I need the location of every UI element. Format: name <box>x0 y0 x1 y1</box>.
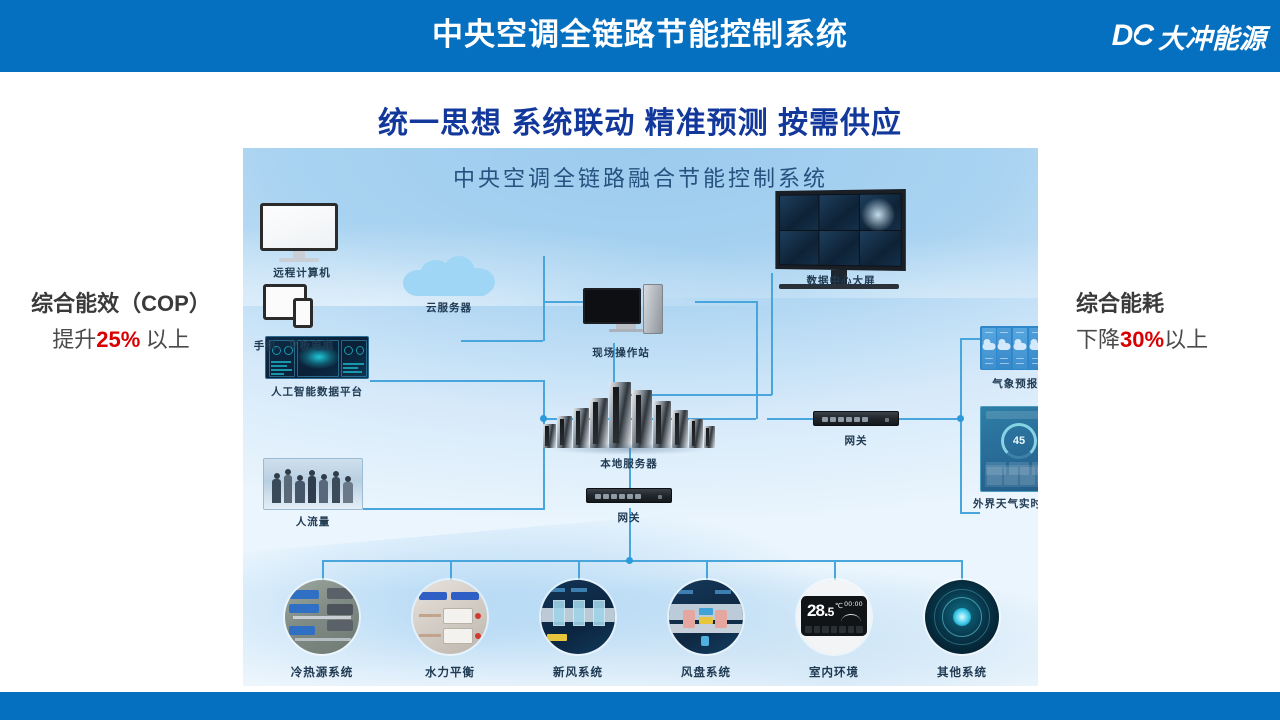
node-remote-computer[interactable] <box>260 203 338 262</box>
header-bar: 中央空调全链路节能控制系统 DC 大冲能源 <box>0 0 1280 72</box>
thermostat-temperature: 28.5 <box>807 602 833 619</box>
video-wall-icon <box>775 189 905 271</box>
kpi-left: 综合能效（COP） 提升25% 以上 <box>8 286 234 354</box>
line-server-to-gateway <box>767 418 813 420</box>
node-gateway-right[interactable] <box>813 411 899 426</box>
node-mobile-tablet[interactable] <box>263 284 323 332</box>
slide-subtitle: 统一思想 系统联动 精准预测 按需供应 <box>0 98 1280 142</box>
node-weather-realtime[interactable]: 45 <box>980 406 1038 492</box>
junction-dot-bottom <box>626 557 633 564</box>
kpi-left-prefix: 提升 <box>52 327 96 352</box>
caption-subsystem-2: 新风系统 <box>528 664 628 680</box>
kpi-right-suffix: 以上 <box>1164 327 1208 352</box>
caption-people-flow: 人流量 <box>263 514 363 529</box>
gateway-ports-bottom <box>595 494 641 499</box>
workstation-monitor-icon <box>583 288 641 324</box>
monitor-icon <box>260 203 338 251</box>
line-drop-1 <box>322 560 324 582</box>
gateway-led-bottom <box>658 495 662 499</box>
caption-local-server: 本地服务器 <box>559 456 699 471</box>
caption-remote-computer: 远程计算机 <box>243 265 361 280</box>
caption-subsystem-4: 室内环境 <box>784 664 884 680</box>
line-drop-2 <box>450 560 452 582</box>
decor-wave-bottom2 <box>243 524 1038 686</box>
monitor-neck <box>293 251 305 258</box>
phone-icon <box>293 298 313 328</box>
line-drop-3 <box>578 560 580 582</box>
page-title: 中央空调全链路节能控制系统 <box>0 6 1280 64</box>
subsystem-icon-other-systems[interactable] <box>925 580 999 654</box>
node-gateway-bottom[interactable] <box>586 488 672 503</box>
kpi-left-title: 综合能效（COP） <box>8 286 234 318</box>
line-people-right <box>363 508 545 510</box>
line-remote-to-bus <box>543 256 545 302</box>
weather-forecast-image <box>980 326 1038 370</box>
kpi-left-value: 提升25% 以上 <box>8 322 234 354</box>
caption-subsystem-1: 水力平衡 <box>400 664 500 680</box>
caption-subsystem-0: 冷热源系统 <box>272 664 372 680</box>
node-cloud-server[interactable] <box>403 256 495 296</box>
gateway-ports <box>822 417 868 422</box>
line-mobile-up <box>543 301 545 341</box>
weather-realtime-dashboard: 45 <box>980 406 1038 492</box>
kpi-right-value: 下降30%以上 <box>1076 322 1276 354</box>
subsystem-icon-indoor-environment[interactable]: 28.5 ℃ 00:00 <box>797 580 871 654</box>
caption-onsite-workstation: 现场操作站 <box>561 345 681 360</box>
gateway-icon <box>813 411 899 426</box>
line-right-vertical <box>960 338 962 513</box>
caption-data-center-screen: 数据中心大屏 <box>761 273 921 288</box>
workstation-tower-icon <box>643 284 663 334</box>
caption-subsystem-5: 其他系统 <box>912 664 1012 680</box>
dashboard-footer-row <box>985 465 1038 487</box>
node-local-server[interactable] <box>543 376 715 448</box>
caption-ai-data-platform: 人工智能数据平台 <box>243 384 397 399</box>
line-bigscreen-down <box>771 273 773 395</box>
server-shadow <box>549 443 709 455</box>
thermostat-display: 28.5 ℃ 00:00 <box>801 596 867 636</box>
screen-glare <box>861 197 896 232</box>
line-drop-5 <box>834 560 836 582</box>
company-logo: DC 大冲能源 <box>1112 14 1266 58</box>
thermostat-buttons[interactable] <box>805 626 863 633</box>
node-weather-station[interactable] <box>980 326 1038 370</box>
subsystem-icon-cold-heat-source[interactable] <box>285 580 359 654</box>
slide-root: 中央空调全链路节能控制系统 DC 大冲能源 统一思想 系统联动 精准预测 按需供… <box>0 0 1280 720</box>
airflow-icon <box>841 614 861 622</box>
caption-gateway-right: 网关 <box>806 433 906 448</box>
gateway-led <box>885 418 889 422</box>
caption-weather-realtime: 外界天气实时数据 <box>943 496 1038 511</box>
caption-cloud-server: 云服务器 <box>395 300 503 315</box>
line-drop-4 <box>706 560 708 582</box>
kpi-right-prefix: 下降 <box>1076 327 1120 352</box>
kpi-right-percent: 30% <box>1120 327 1164 352</box>
kpi-left-suffix: 以上 <box>140 327 190 352</box>
logo-dot-icon <box>1136 34 1142 40</box>
caption-weather-station: 气象预报站 <box>959 376 1038 391</box>
node-onsite-workstation[interactable] <box>583 288 669 340</box>
caption-subsystem-3: 风盘系统 <box>656 664 756 680</box>
line-to-weather-realtime <box>960 512 980 514</box>
kpi-right: 综合能耗 下降30%以上 <box>1076 286 1276 354</box>
gateway-icon-bottom <box>586 488 672 503</box>
thermostat-clock: 00:00 <box>844 601 863 608</box>
line-gateway-to-right <box>899 418 961 420</box>
dashboard-header-bar <box>986 411 1038 419</box>
logo-mark-dc: DC <box>1112 19 1153 53</box>
subsystem-icon-fresh-air[interactable] <box>541 580 615 654</box>
caption-mobile-tablet: 手机、平板电脑 <box>243 338 353 353</box>
line-mobile-right <box>461 340 543 342</box>
aqi-gauge: 45 <box>1001 423 1037 459</box>
line-bottom-bus <box>322 560 962 562</box>
workstation-foot <box>609 329 643 332</box>
line-cloud-right <box>695 301 757 303</box>
line-ai-right <box>370 380 545 382</box>
logo-company-name: 大冲能源 <box>1158 17 1266 56</box>
line-drop-6 <box>961 560 963 582</box>
caption-gateway-bottom: 网关 <box>579 510 679 525</box>
people-flow-image <box>263 458 363 510</box>
architecture-diagram-panel: 中央空调全链路融合节能控制系统 <box>243 148 1038 686</box>
node-people-flow[interactable] <box>263 458 363 510</box>
diagram-title: 中央空调全链路融合节能控制系统 <box>243 161 1038 193</box>
footer-bar <box>0 692 1280 720</box>
line-cloud-down <box>756 301 758 419</box>
subsystem-icon-fan-coil[interactable] <box>669 580 743 654</box>
monitor-base <box>279 258 319 262</box>
kpi-right-title: 综合能耗 <box>1076 286 1276 318</box>
thermostat-unit: ℃ <box>835 602 843 610</box>
line-to-weather-station <box>960 338 980 340</box>
subsystem-icon-hydraulic-balance[interactable] <box>413 580 487 654</box>
cloud-icon <box>403 256 495 296</box>
server-cluster-icon <box>543 376 715 448</box>
junction-dot-right <box>957 415 964 422</box>
kpi-left-percent: 25% <box>96 327 140 352</box>
